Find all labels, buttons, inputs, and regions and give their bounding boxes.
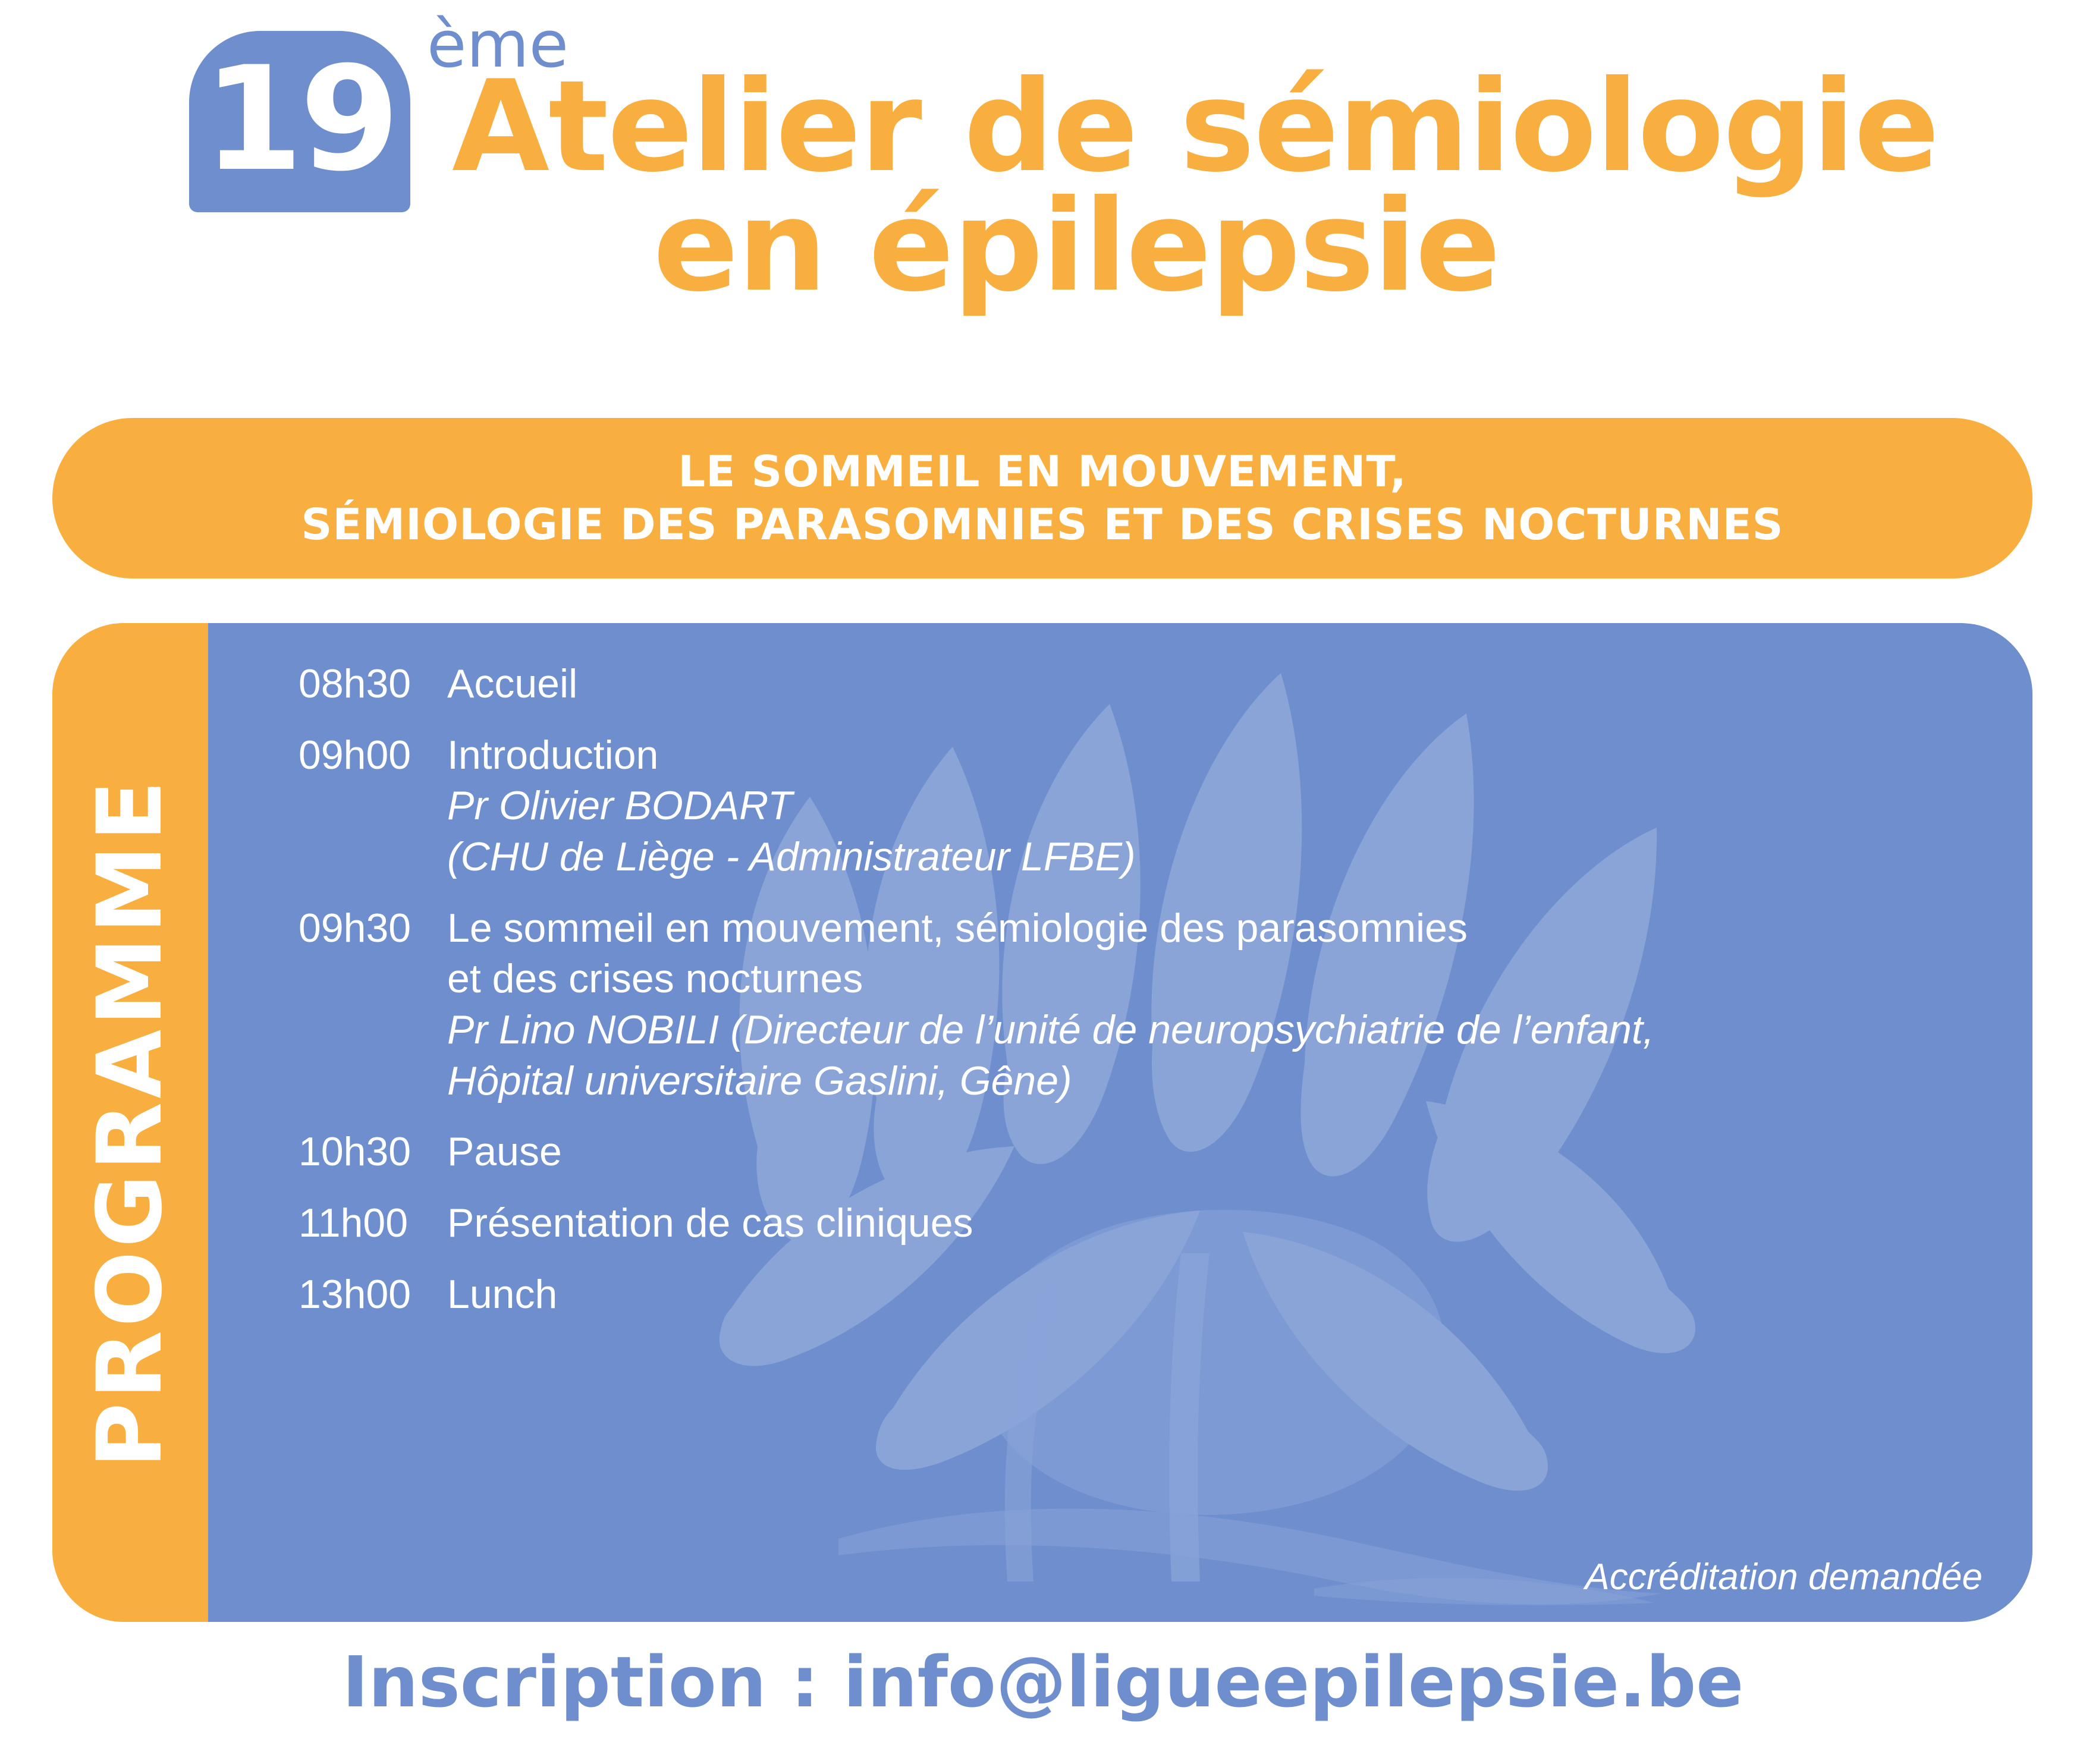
schedule-detail: Lunch — [447, 1269, 2011, 1320]
subtitle-line-1: LE SOMMEIL EN MOUVEMENT, — [678, 445, 1406, 498]
schedule-row: 09h30 Le sommeil en mouvement, sémiologi… — [299, 903, 2011, 1107]
edition-number-badge: 19 — [189, 31, 410, 212]
schedule-speaker-line: Pr Lino NOBILI (Directeur de l’unité de … — [447, 1005, 2011, 1056]
programme-panel: PROGRAMME — [52, 623, 2032, 1622]
page-title-line-2: en épilepsie — [416, 186, 2022, 306]
schedule-detail-line: Le sommeil en mouvement, sémiologie des … — [447, 903, 2011, 954]
schedule-time: 10h30 — [299, 1127, 447, 1178]
schedule-time: 11h00 — [299, 1198, 447, 1249]
schedule-row: 08h30 Accueil — [299, 659, 2011, 710]
schedule-detail-line: Accueil — [447, 659, 2011, 710]
schedule-detail-line: Présentation de cas cliniques — [447, 1198, 2011, 1249]
schedule-detail-line: Lunch — [447, 1269, 2011, 1320]
schedule-affiliation-line: Hôpital universitaire Gaslini, Gêne) — [447, 1056, 2011, 1107]
edition-number-text: 19 — [203, 48, 397, 191]
programme-body: 08h30 Accueil 09h00 Introduction Pr Oliv… — [208, 623, 2032, 1622]
schedule-time: 09h30 — [299, 903, 447, 954]
schedule-detail: Introduction Pr Olivier BODART (CHU de L… — [447, 730, 2011, 883]
schedule-row: 09h00 Introduction Pr Olivier BODART (CH… — [299, 730, 2011, 883]
page-title-line-1: Atelier de sémiologie — [416, 67, 2022, 186]
programme-sidebar-label: PROGRAMME — [86, 777, 175, 1469]
schedule-affiliation-line: (CHU de Liège - Administrateur LFBE) — [447, 832, 2011, 883]
schedule-row: 10h30 Pause — [299, 1127, 2011, 1178]
registration-email-link[interactable]: Inscription : info@ligueepilepsie.be — [343, 1641, 1744, 1723]
schedule-detail: Accueil — [447, 659, 2011, 710]
schedule-time: 08h30 — [299, 659, 447, 710]
schedule-detail-line: Introduction — [447, 730, 2011, 781]
schedule-detail: Le sommeil en mouvement, sémiologie des … — [447, 903, 2011, 1107]
poster-header: 19 ème Atelier de sémiologie en épilepsi… — [0, 0, 2086, 410]
schedule-speaker-line: Pr Olivier BODART — [447, 781, 2011, 832]
registration-footer: Inscription : info@ligueepilepsie.be — [0, 1647, 2086, 1717]
subtitle-line-2: SÉMIOLOGIE DES PARASOMNIES ET DES CRISES… — [301, 498, 1783, 551]
page-title: Atelier de sémiologie en épilepsie — [416, 67, 2022, 306]
schedule-row: 13h00 Lunch — [299, 1269, 2011, 1320]
schedule-detail: Pause — [447, 1127, 2011, 1178]
accreditation-note: Accréditation demandée — [1585, 1559, 1983, 1596]
programme-sidebar: PROGRAMME — [52, 623, 208, 1622]
schedule-list: 08h30 Accueil 09h00 Introduction Pr Oliv… — [299, 659, 2011, 1340]
schedule-row: 11h00 Présentation de cas cliniques — [299, 1198, 2011, 1249]
schedule-time: 13h00 — [299, 1269, 447, 1320]
schedule-detail-line: Pause — [447, 1127, 2011, 1178]
schedule-detail-line: et des crises nocturnes — [447, 954, 2011, 1005]
schedule-detail: Présentation de cas cliniques — [447, 1198, 2011, 1249]
subtitle-banner: LE SOMMEIL EN MOUVEMENT, SÉMIOLOGIE DES … — [52, 418, 2032, 578]
schedule-time: 09h00 — [299, 730, 447, 781]
